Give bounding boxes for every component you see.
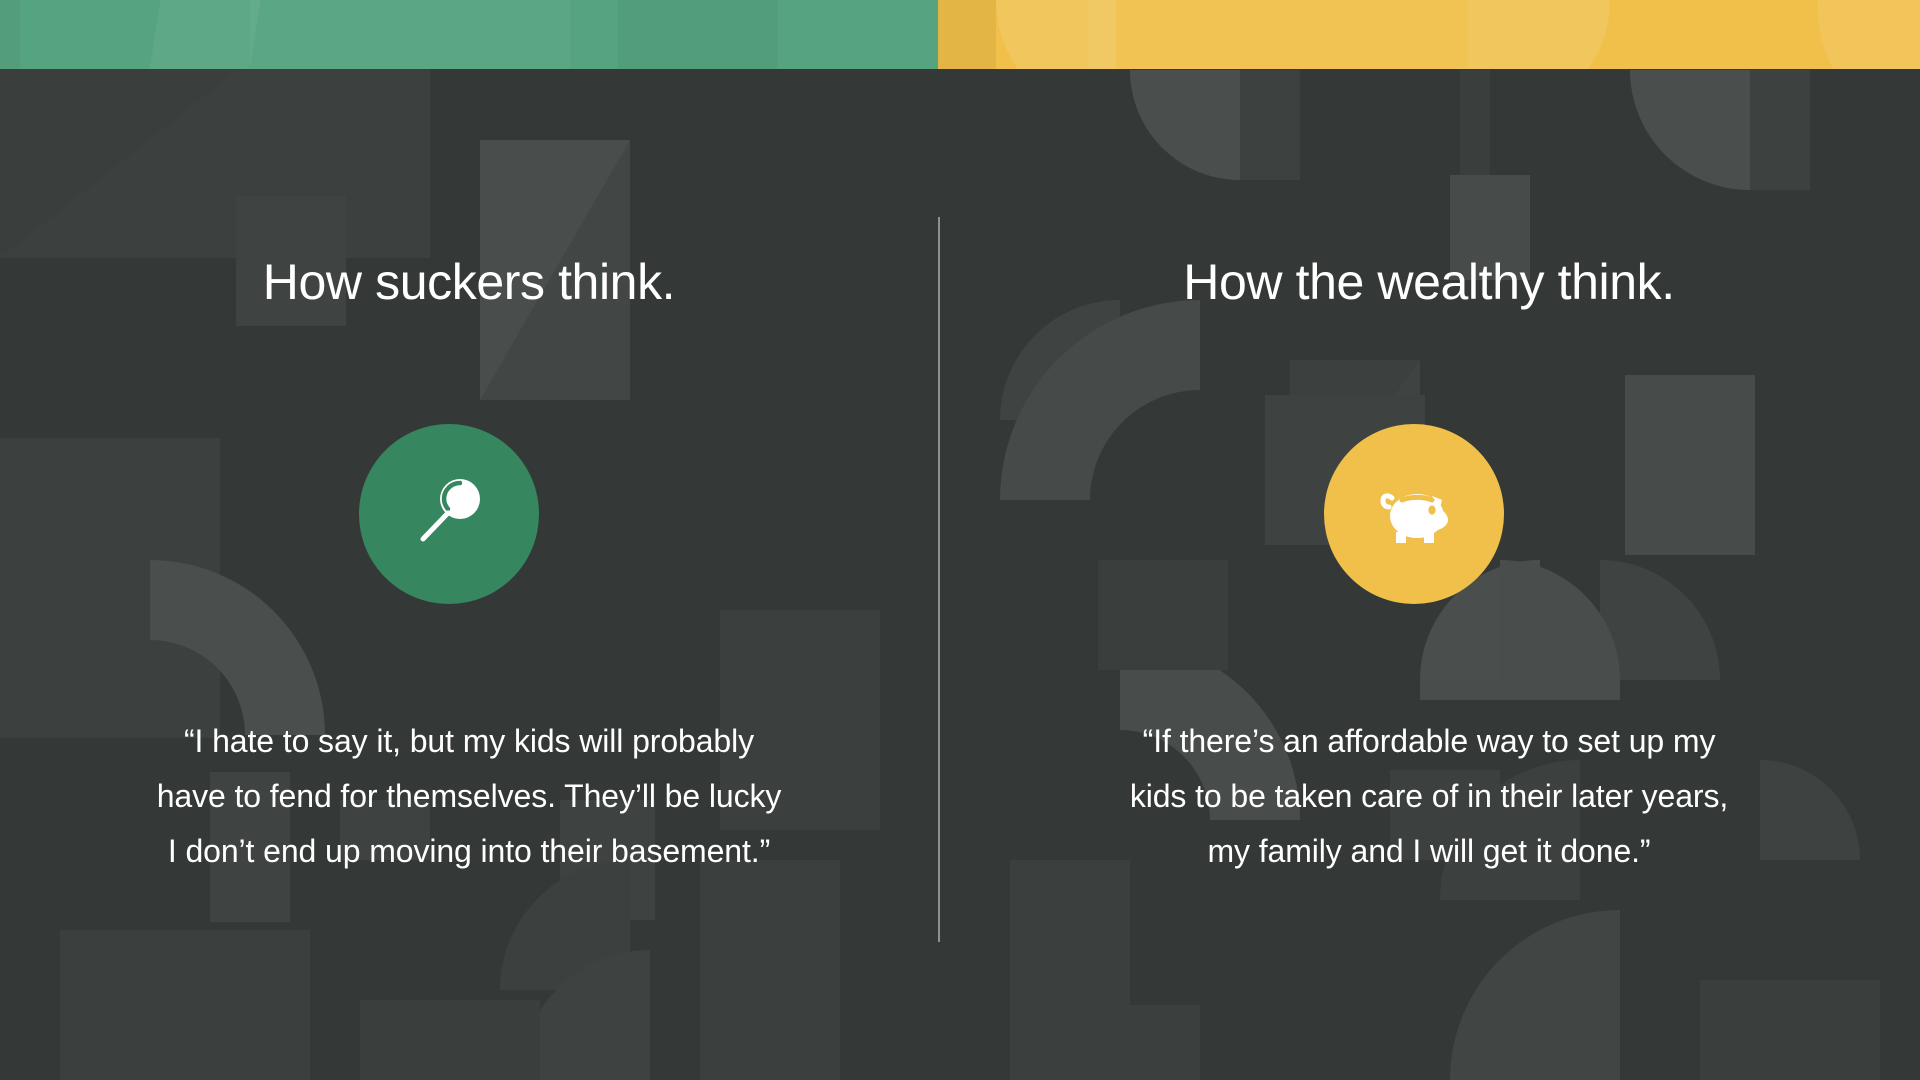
piggy-bank-icon [1368,468,1460,560]
piggy-bank-icon-circle [1324,424,1504,604]
panel-wealthy-heading: How the wealthy think. [938,255,1920,310]
quote-line: have to fend for themselves. They’ll be … [0,769,938,824]
topbar-yellow-shape-3 [1468,0,1610,69]
quote-line: kids to be taken care of in their later … [938,769,1920,824]
panel-wealthy-quote: “If there’s an affordable way to set up … [938,714,1920,879]
panel-wealthy: How the wealthy think. [938,0,1920,1080]
quote-line: “If there’s an affordable way to set up … [938,714,1920,769]
topbar-green-shape-edge [0,0,20,69]
topbar-yellow-shape-4 [1818,0,1920,69]
panel-suckers-heading: How suckers think. [0,255,938,310]
panel-suckers: How suckers think. “I hate to say it, bu… [0,0,938,1080]
lollipop-icon-circle [359,424,539,604]
top-bar-green-half [0,0,938,69]
comparison-columns: How suckers think. “I hate to say it, bu… [0,0,1920,1080]
topbar-green-shape-1 [148,0,262,69]
topbar-yellow-shape-2 [1088,0,1468,69]
topbar-green-shape-3 [618,0,778,69]
quote-line: “I hate to say it, but my kids will prob… [0,714,938,769]
topbar-yellow-shape-edge [938,0,996,69]
quote-line: my family and I will get it done.” [938,824,1920,879]
top-color-bar [0,0,1920,69]
lollipop-icon [404,469,494,559]
panel-suckers-quote: “I hate to say it, but my kids will prob… [0,714,938,879]
topbar-green-shape-2 [250,0,570,69]
slide-canvas: How suckers think. “I hate to say it, bu… [0,0,1920,1080]
top-bar-yellow-half [938,0,1920,69]
quote-line: I don’t end up moving into their basemen… [0,824,938,879]
